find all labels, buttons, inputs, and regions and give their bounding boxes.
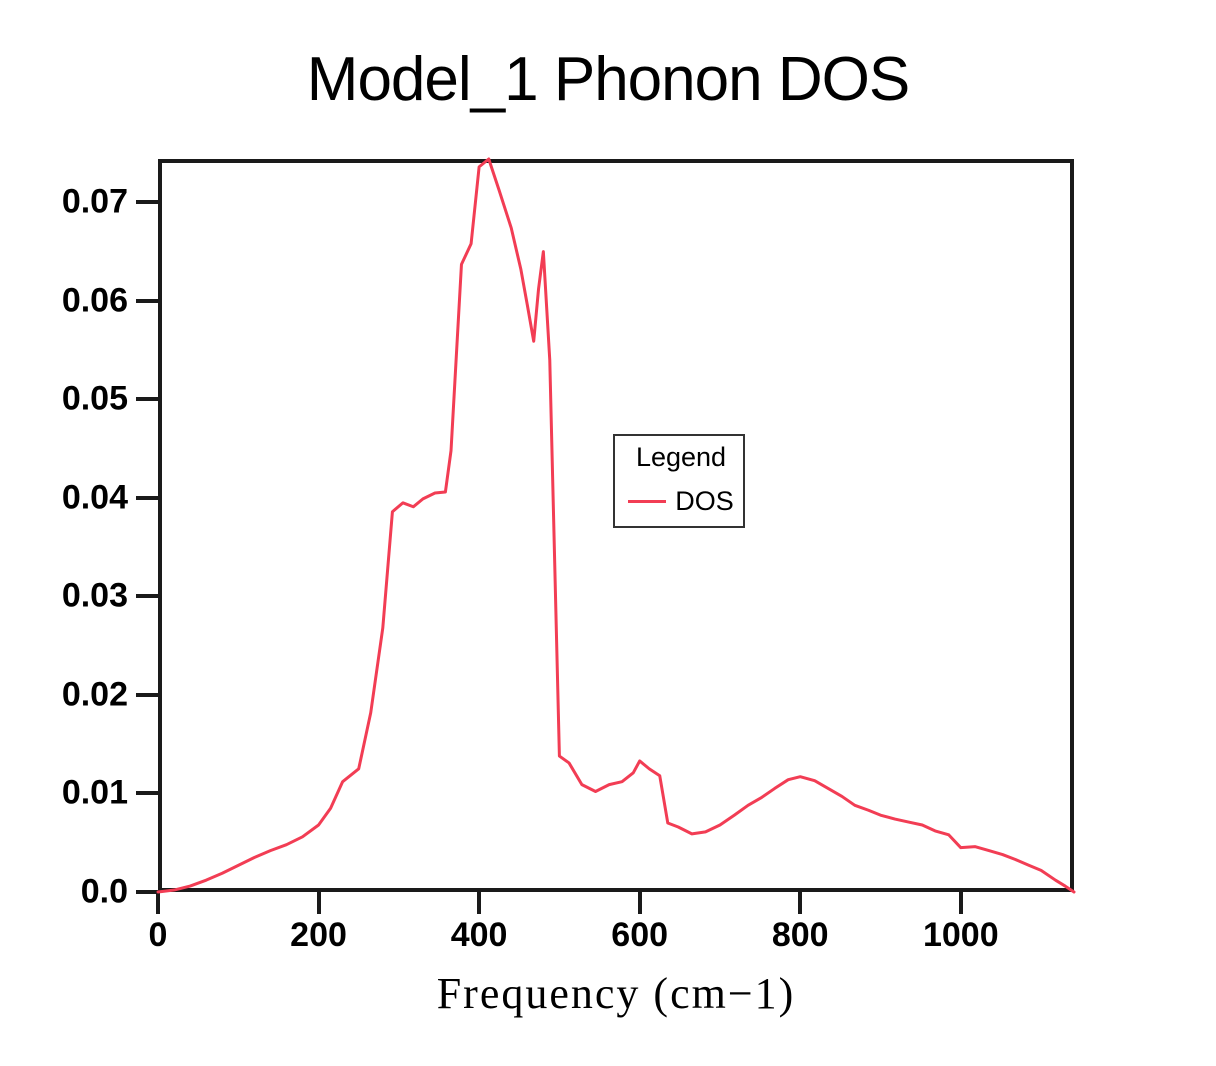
- y-tick-label: 0.02: [0, 675, 128, 714]
- y-tick-mark: [136, 693, 158, 697]
- legend-title: Legend: [615, 442, 747, 473]
- y-tick-mark: [136, 496, 158, 500]
- y-tick-mark: [136, 594, 158, 598]
- y-tick-label: 0.04: [0, 478, 128, 517]
- legend: Legend DOS: [613, 434, 745, 528]
- x-tick-mark: [317, 892, 321, 914]
- y-tick-label: 0.05: [0, 380, 128, 419]
- y-tick-mark: [136, 397, 158, 401]
- legend-line-swatch-icon: [628, 500, 666, 503]
- y-tick-mark: [136, 791, 158, 795]
- x-axis-title: Frequency (cm−1): [158, 968, 1074, 1019]
- legend-item-label: DOS: [675, 486, 734, 517]
- y-tick-mark: [136, 890, 158, 894]
- x-tick-mark: [477, 892, 481, 914]
- y-tick-label: 0.03: [0, 577, 128, 616]
- page-title: Model_1 Phonon DOS: [0, 44, 1216, 115]
- x-tick-mark: [959, 892, 963, 914]
- y-tick-mark: [136, 299, 158, 303]
- x-tick-label: 600: [611, 916, 668, 955]
- y-tick-label: 0.06: [0, 281, 128, 320]
- legend-item-dos[interactable]: DOS: [615, 486, 747, 517]
- x-tick-label: 200: [290, 916, 347, 955]
- x-tick-label: 1000: [923, 916, 999, 955]
- y-tick-mark: [136, 200, 158, 204]
- x-tick-label: 0: [149, 916, 168, 955]
- x-tick-mark: [638, 892, 642, 914]
- y-tick-label: 0.01: [0, 774, 128, 813]
- chart-page: Model_1 Phonon DOS 0.00.010.020.030.040.…: [0, 0, 1216, 1066]
- x-tick-label: 800: [772, 916, 829, 955]
- x-tick-mark: [156, 892, 160, 914]
- y-tick-label: 0.0: [0, 873, 128, 912]
- x-tick-label: 400: [451, 916, 508, 955]
- y-tick-label: 0.07: [0, 183, 128, 222]
- x-tick-mark: [798, 892, 802, 914]
